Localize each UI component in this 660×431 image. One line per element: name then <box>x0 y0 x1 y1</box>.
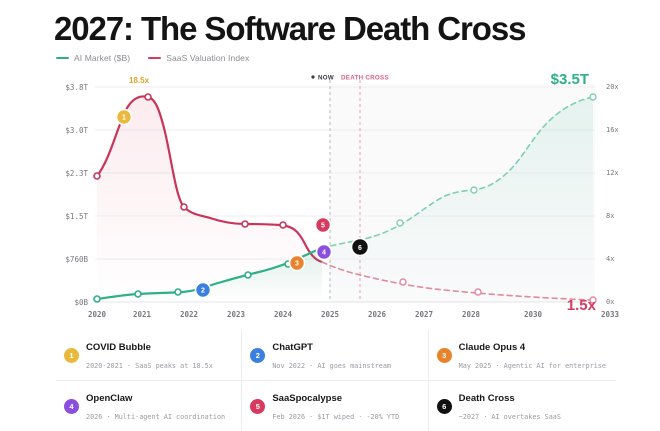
ytick-right-5: 0x <box>606 298 614 306</box>
ytick-left-3: $1.5T <box>65 212 88 221</box>
legend-item-saas-valuation: SaaS Valuation Index <box>148 53 249 63</box>
xtick-2: 2022 <box>180 310 198 319</box>
page-title: 2027: The Software Death Cross <box>54 10 525 48</box>
marker-4[interactable]: 4 <box>317 245 332 260</box>
ytick-left-1: $3.0T <box>65 126 88 135</box>
marker-3[interactable]: 3 <box>290 256 305 271</box>
card-subtitle: May 2025 · Agentic AI for enterprise <box>459 362 606 370</box>
card-subtitle: 2026 · Multi-agent AI coordination <box>86 413 225 421</box>
ytick-left-4: $760B <box>65 255 88 264</box>
card-title: ChatGPT <box>272 342 313 353</box>
xtick-10: 2033 <box>601 310 620 319</box>
marker-5-number: 5 <box>321 223 325 230</box>
ytick-right-4: 4x <box>606 255 614 263</box>
badge-2: 2 <box>250 348 265 363</box>
marker-5[interactable]: 5 <box>316 218 331 233</box>
ytick-right-0: 20x <box>606 83 619 91</box>
y-axis-left: $3.8T $3.0T $2.3T $1.5T $760B $0B <box>65 83 88 307</box>
card-subtitle: ~2027 · AI overtakes SaaS <box>459 413 561 421</box>
card-title: Death Cross <box>459 393 515 404</box>
badge-3: 3 <box>437 348 452 363</box>
list-item[interactable]: 4 OpenClaw 2026 · Multi-agent AI coordin… <box>56 380 242 431</box>
xtick-7: 2027 <box>415 310 433 319</box>
marker-6-number: 6 <box>358 245 362 252</box>
list-item[interactable]: 3 Claude Opus 4 May 2025 · Agentic AI fo… <box>429 330 616 380</box>
list-item[interactable]: 5 SaaSpocalypse Feb 2026 · $1T wiped · -… <box>242 380 428 431</box>
marker-6[interactable]: 6 <box>352 239 369 256</box>
badge-5: 5 <box>250 399 265 414</box>
marker-2-number: 2 <box>201 288 205 295</box>
xtick-4: 2024 <box>274 310 293 319</box>
legend-label-ai-market: AI Market ($B) <box>74 53 130 63</box>
x-axis: 2020 2021 2022 2023 2024 2025 2026 2027 … <box>88 310 620 319</box>
xtick-1: 2021 <box>133 310 152 319</box>
card-title: OpenClaw <box>86 393 132 404</box>
chart-svg: $3.8T $3.0T $2.3T $1.5T $760B $0B 20x 16… <box>0 72 660 320</box>
card-subtitle: 2020-2021 · SaaS peaks at 18.5x <box>86 362 213 370</box>
milestone-cards: 1 COVID Bubble 2020-2021 · SaaS peaks at… <box>56 330 616 431</box>
card-subtitle: Feb 2026 · $1T wiped · -20% YTD <box>272 413 399 421</box>
marker-3-number: 3 <box>295 261 299 268</box>
ytick-left-5: $0B <box>74 298 88 307</box>
death-cross-tag: DEATH CROSS <box>341 75 389 82</box>
xtick-8: 2028 <box>462 310 481 319</box>
now-dot-icon <box>311 75 314 78</box>
legend-item-ai-market: AI Market ($B) <box>56 53 130 63</box>
marker-2[interactable]: 2 <box>196 283 211 298</box>
ytick-right-3: 8x <box>606 212 614 220</box>
peak-annotation-label: 18.5x <box>129 76 150 85</box>
card-subtitle: Nov 2022 · AI goes mainstream <box>272 362 391 370</box>
xtick-6: 2026 <box>368 310 387 319</box>
marker-1[interactable]: 1 <box>117 110 132 125</box>
saas-end-label: 1.5x <box>567 297 597 314</box>
card-title: Claude Opus 4 <box>459 342 526 353</box>
card-title: COVID Bubble <box>86 342 151 353</box>
legend-swatch-saas-valuation <box>148 57 161 60</box>
card-title: SaaSpocalypse <box>272 393 342 404</box>
chart-legend: AI Market ($B) SaaS Valuation Index <box>56 53 249 63</box>
legend-label-saas-valuation: SaaS Valuation Index <box>166 53 249 63</box>
marker-1-number: 1 <box>122 115 126 122</box>
chart-area: $3.8T $3.0T $2.3T $1.5T $760B $0B 20x 16… <box>0 72 660 320</box>
now-tag: NOW <box>318 75 334 82</box>
ytick-right-1: 16x <box>606 126 619 134</box>
chart-page: 2027: The Software Death Cross AI Market… <box>0 0 660 414</box>
ai-end-label: $3.5T <box>551 72 589 88</box>
ytick-right-2: 12x <box>606 169 619 177</box>
legend-swatch-ai-market <box>56 57 69 60</box>
list-item[interactable]: 1 COVID Bubble 2020-2021 · SaaS peaks at… <box>56 330 242 380</box>
ytick-left-0: $3.8T <box>65 83 88 92</box>
xtick-3: 2023 <box>227 310 246 319</box>
badge-1: 1 <box>64 348 79 363</box>
ytick-left-2: $2.3T <box>65 169 88 178</box>
xtick-0: 2020 <box>88 310 107 319</box>
xtick-5: 2025 <box>321 310 339 319</box>
badge-6: 6 <box>437 399 452 414</box>
marker-4-number: 4 <box>322 250 326 257</box>
list-item[interactable]: 2 ChatGPT Nov 2022 · AI goes mainstream <box>242 330 428 380</box>
xtick-9: 2030 <box>524 310 543 319</box>
list-item[interactable]: 6 Death Cross ~2027 · AI overtakes SaaS <box>429 380 616 431</box>
y-axis-right: 20x 16x 12x 8x 4x 0x <box>606 83 619 306</box>
badge-4: 4 <box>64 399 79 414</box>
